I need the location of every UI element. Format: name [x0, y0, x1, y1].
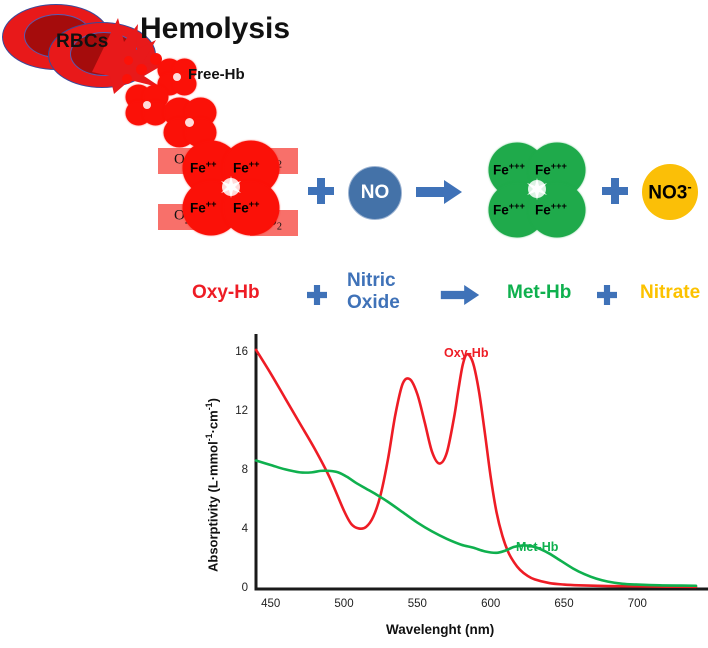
- chart-x-tick-label: 650: [544, 598, 584, 610]
- chart-x-tick-label: 700: [617, 598, 657, 610]
- word-nitric-oxide-line1: Nitric: [347, 270, 396, 291]
- plus-icon: [602, 178, 628, 204]
- free-hemoglobin-cluster: [127, 86, 167, 124]
- hemoglobin-dot: [122, 74, 132, 84]
- chart-y-tick-label: 16: [224, 346, 248, 358]
- hemolysis-scene: RBCs Hemolysis Free-Hb: [0, 0, 330, 150]
- iron-label: Fe++: [233, 159, 259, 176]
- word-oxy-hb: Oxy-Hb: [192, 282, 260, 303]
- chart-x-tick-label: 500: [324, 598, 364, 610]
- word-met-hb: Met-Hb: [507, 282, 571, 303]
- iron-label: Fe++: [190, 199, 216, 216]
- reaction-arrow-icon: [416, 180, 462, 204]
- plus-icon: [597, 285, 617, 305]
- iron-label: Fe+++: [535, 201, 567, 218]
- iron-label: Fe+++: [535, 161, 567, 178]
- nitrate-molecule: NO3-: [642, 164, 698, 220]
- word-nitric-oxide-line2: Oxide: [347, 292, 400, 313]
- nitric-oxide-label: NO: [361, 182, 390, 204]
- chart-plot-area: [186, 322, 708, 618]
- reaction-equation-graphics: O2 O2 O2 O2 Fe++ Fe++ Fe++ Fe++: [0, 138, 708, 256]
- reaction-arrow-icon: [440, 285, 480, 305]
- chart-x-axis-label: Wavelenght (nm): [386, 622, 494, 637]
- hemoglobin-dot: [124, 56, 133, 65]
- chart-x-tick-label: 600: [471, 598, 511, 610]
- series-line-met-hb: [256, 461, 696, 586]
- absorptivity-spectrum-chart: Absorptivity (L·mmol-1·cm-1) Wavelenght …: [186, 322, 708, 648]
- page-title: Hemolysis: [140, 12, 290, 46]
- iron-label: Fe++: [190, 159, 216, 176]
- chart-y-tick-label: 4: [224, 523, 248, 535]
- word-nitrate: Nitrate: [640, 282, 700, 303]
- series-label-met-hb: Met-Hb: [516, 540, 558, 554]
- nitrate-formula-label: NO3-: [648, 179, 691, 204]
- met-hb-complex: Fe+++ Fe+++ Fe+++ Fe+++: [490, 144, 586, 238]
- chart-x-tick-label: 550: [397, 598, 437, 610]
- plus-icon: [307, 285, 327, 305]
- oxy-hb-complex: O2 O2 O2 O2 Fe++ Fe++ Fe++ Fe++: [158, 142, 298, 246]
- heme-center-icon: [220, 176, 242, 198]
- iron-label: Fe+++: [493, 201, 525, 218]
- iron-label: Fe+++: [493, 161, 525, 178]
- hemoglobin-dot: [136, 64, 147, 75]
- plus-icon: [308, 178, 334, 204]
- heme-center-icon: [526, 178, 548, 200]
- series-line-oxy-hb: [256, 350, 696, 587]
- nitric-oxide-molecule: NO: [348, 166, 402, 220]
- series-label-oxy-hb: Oxy-Hb: [444, 346, 488, 360]
- free-hb-label: Free-Hb: [188, 66, 245, 83]
- oxy-hb-tetramer: Fe++ Fe++ Fe++ Fe++: [184, 142, 278, 234]
- chart-y-tick-label: 12: [224, 405, 248, 417]
- chart-y-tick-label: 8: [224, 464, 248, 476]
- chart-y-tick-label: 0: [224, 582, 248, 594]
- word-equation: Oxy-Hb Nitric Oxide Met-Hb Nitrate: [0, 258, 708, 316]
- chart-x-tick-label: 450: [251, 598, 291, 610]
- rbc-label: RBCs: [56, 31, 109, 53]
- met-hb-tetramer: Fe+++ Fe+++ Fe+++ Fe+++: [490, 144, 584, 236]
- iron-label: Fe++: [233, 199, 259, 216]
